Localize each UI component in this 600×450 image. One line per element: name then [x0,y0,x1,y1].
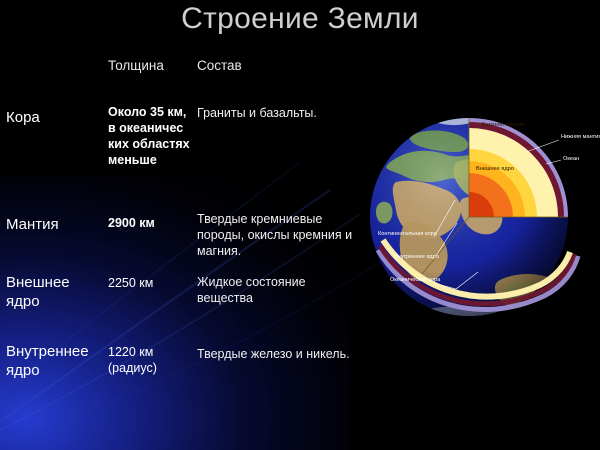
layer-composition: Граниты и базальты. [197,105,357,121]
layers-table: Толщина Состав Кора Около 35 км, в океан… [0,48,360,408]
layer-composition: Жидкое состояние вещества [197,274,357,306]
layer-thickness: Около 35 км, в океаничес ких областях ме… [108,104,190,168]
layer-composition: Твердые железо и никель. [197,342,357,366]
layer-thickness: 1220 км (радиус) [108,344,190,376]
layer-name: Мантия [6,215,106,234]
label-outer-core: Внешнее ядро [476,166,514,172]
label-upper-mantle: Верхняя мантия [482,122,524,128]
slide-root: Строение Земли Толщина Состав Кора Около… [0,0,600,450]
layer-name: Кора [6,108,106,127]
label-lower-mantle: Нижняя мантия [561,134,600,140]
label-oceanic-crust: Океаническая кора [390,277,441,283]
column-header-thickness: Толщина [108,58,164,73]
layer-name: Внешнее ядро [6,273,106,311]
earth-cutaway-diagram: Верхняя мантия Внешнее ядро Нижняя манти… [360,90,600,335]
page-title: Строение Земли [0,2,600,36]
column-header-composition: Состав [197,58,242,73]
layer-composition: Твердые кремниевые породы, окислы кремни… [197,211,357,259]
layer-name: Внутреннее ядро [6,342,106,380]
layer-thickness: 2900 км [108,215,190,231]
label-inner-core: Внутреннее ядро [394,254,439,260]
layer-thickness: 2250 км [108,275,190,291]
label-continental-crust: Континентальная кора [378,231,438,237]
label-ocean: Океан [563,156,579,162]
